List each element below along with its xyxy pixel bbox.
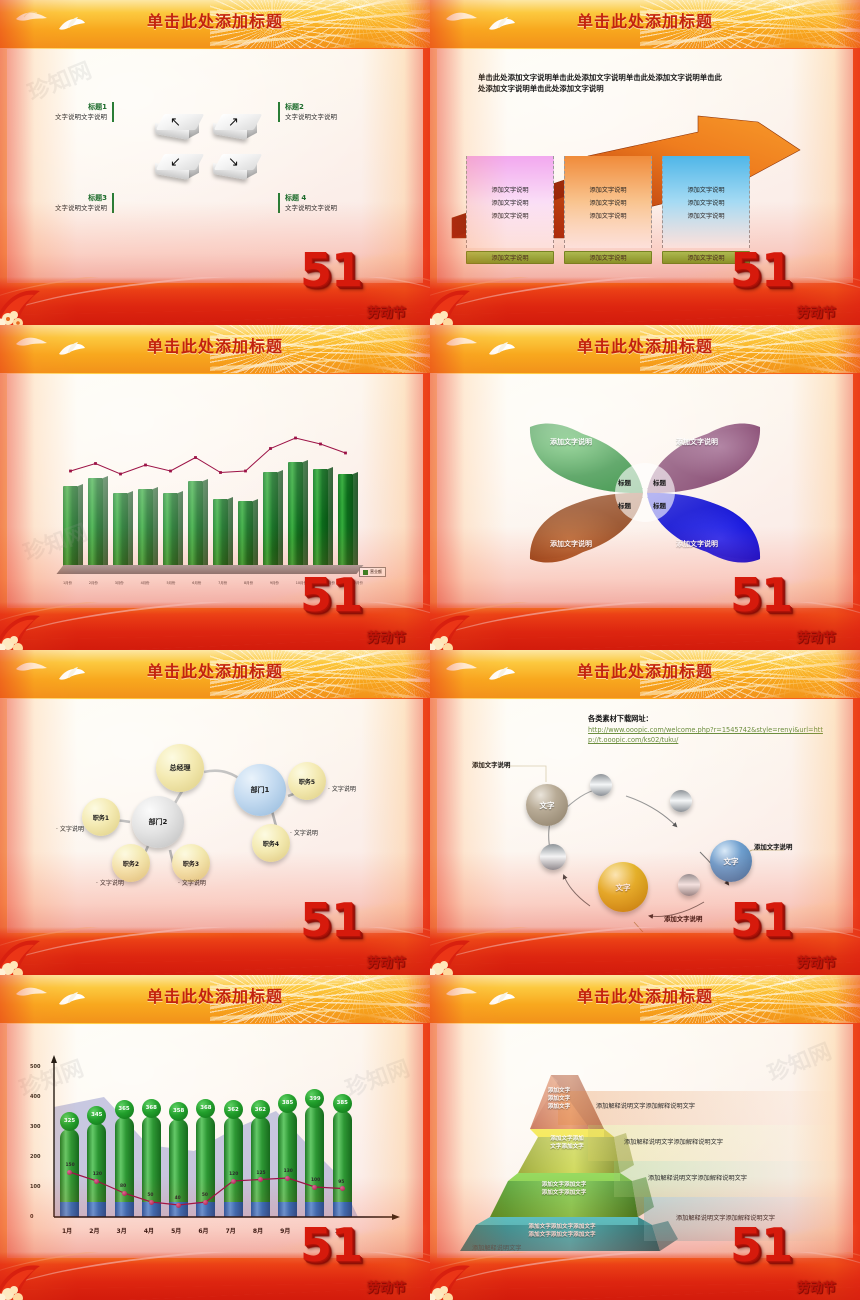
cycle-step-ball [678,874,700,896]
pyramid-level-2-label: 添加文字添加 文字添加文字 [512,1135,622,1151]
may-day-logo: 51 劳动节 [300,247,408,319]
info-column-2[interactable]: 添加文字说明 添加文字说明 添加文字说明 添加文字说明 [564,156,652,264]
flower-decor-icon [430,604,502,650]
cycle-note-3: 添加文字说明 [664,914,702,923]
pyramid-level-1-label: 添加文字 添加文字 添加文字 [522,1087,596,1111]
org-node-dept2[interactable]: 部门2 [132,796,184,848]
petal-center-label-2: 标题 [653,477,666,487]
key-block-3[interactable]: ↙ [160,154,200,180]
org-node-role3[interactable]: 职务3 [172,844,210,882]
pyramid-level-3-desc: 添加解释说明文字添加解释说明文字 [648,1173,747,1182]
may-day-logo: 51 劳动节 [730,572,838,644]
cycle-step-ball [670,790,692,812]
download-url-link[interactable]: http://www.ooopic.com/welcome.php?r=1545… [588,726,833,746]
cycle-node-2[interactable]: 文字 [710,840,752,882]
flower-decor-icon [0,929,72,975]
key-block-1[interactable]: ↖ [160,114,200,140]
org-note-4: · 文字说明 [290,828,318,837]
flower-decor-icon [0,604,72,650]
flower-decor-icon [0,279,72,325]
column-button-1[interactable]: 添加文字说明 [466,251,554,264]
column-body: 添加文字说明 添加文字说明 添加文字说明 [564,156,652,248]
slide-7-capsule-chart[interactable]: 单击此处添加标题 珍知网 珍知网 01002003004005003253453… [0,975,430,1300]
page-title: 单击此处添加标题 [0,8,430,32]
flower-decor-icon [0,1254,72,1300]
org-node-role1[interactable]: 职务1 [82,798,120,836]
cycle-node-3[interactable]: 文字 [598,862,648,912]
arrow-downleft-icon: ↙ [170,156,181,169]
page-title: 单击此处添加标题 [430,983,860,1007]
may-day-logo: 51 劳动节 [730,1222,838,1294]
org-note-5: · 文字说明 [328,784,356,793]
column-button-2[interactable]: 添加文字说明 [564,251,652,264]
download-heading: 各类素材下载网址： [588,714,653,724]
arrow-upleft-icon: ↖ [170,116,181,129]
org-node-role5[interactable]: 职务5 [288,762,326,800]
petal-center-label-4: 标题 [653,500,666,510]
petal-center-label-1: 标题 [618,477,631,487]
key-label-4: 标题 4 文字说明文字说明 [278,193,368,213]
may-day-logo: 51 劳动节 [300,1222,408,1294]
slide-thumbnail-grid: 单击此处添加标题 珍知网 标题1 文字说明文字说明 标题2 文字说明文字说明 标… [0,0,860,1300]
body-text: 单击此处添加文字说明单击此处添加文字说明单击此处添加文字说明单击此处添加文字说明… [478,72,728,95]
arrow-upright-icon: ↗ [228,116,239,129]
column-body: 添加文字说明 添加文字说明 添加文字说明 [466,156,554,248]
pyramid-level-3-label: 添加文字添加文字 添加文字添加文字 [490,1181,638,1197]
org-node-dept1[interactable]: 部门1 [234,764,286,816]
key-label-3: 标题3 文字说明文字说明 [34,193,114,213]
page-title: 单击此处添加标题 [0,658,430,682]
pyramid-level-2-desc: 添加解释说明文字添加解释说明文字 [624,1137,723,1146]
flower-decor-icon [430,279,502,325]
flower-decor-icon [430,929,502,975]
org-node-ceo[interactable]: 总经理 [156,744,204,792]
petal-center-label-3: 标题 [618,500,631,510]
org-node-role2[interactable]: 职务2 [112,844,150,882]
key-block-2[interactable]: ↗ [218,114,258,140]
page-title: 单击此处添加标题 [430,658,860,682]
may-day-logo: 51 劳动节 [730,897,838,969]
cycle-node-1[interactable]: 文字 [526,784,568,826]
key-block-4[interactable]: ↘ [218,154,258,180]
org-node-role4[interactable]: 职务4 [252,824,290,862]
pyramid-footer-note: 添加解释说明文字 [472,1243,522,1252]
slide-6-cycle-diagram[interactable]: 单击此处添加标题 各类素材下载网址： http://www.ooopic.com… [430,650,860,975]
watermark: 珍知网 [22,53,95,107]
cycle-note-2: 添加文字说明 [754,842,792,851]
org-note-1: · 文字说明 [56,824,84,833]
info-column-1[interactable]: 添加文字说明 添加文字说明 添加文字说明 添加文字说明 [466,156,554,264]
arrow-downright-icon: ↘ [228,156,239,169]
may-day-logo: 51 劳动节 [300,572,408,644]
may-day-logo: 51 劳动节 [300,897,408,969]
may-day-logo: 51 劳动节 [730,247,838,319]
slide-2-growth-arrow[interactable]: 单击此处添加标题 单击此处添加文字说明单击此处添加文字说明单击此处添加文字说明单… [430,0,860,325]
key-label-1: 标题1 文字说明文字说明 [34,102,114,122]
slide-3-column-chart[interactable]: 单击此处添加标题 珍知网 1月份2月份3月份4月份5月份6月份7月份8月份9月份… [0,325,430,650]
cycle-step-ball [590,774,612,796]
flower-decor-icon [430,1254,502,1300]
cycle-note-1: 添加文字说明 [472,760,510,769]
column-body: 添加文字说明 添加文字说明 添加文字说明 [662,156,750,248]
org-note-2: · 文字说明 [96,878,124,887]
page-title: 单击此处添加标题 [0,333,430,357]
page-title: 单击此处添加标题 [430,8,860,32]
pyramid-level-1-desc: 添加解释说明文字添加解释说明文字 [596,1101,695,1110]
slide-5-org-chart[interactable]: 单击此处添加标题 总经理 部门1 部门2 [0,650,430,975]
slide-4-petal-diagram[interactable]: 单击此处添加标题 [430,325,860,650]
org-note-3: · 文字说明 [178,878,206,887]
slide-1-four-keys[interactable]: 单击此处添加标题 珍知网 标题1 文字说明文字说明 标题2 文字说明文字说明 标… [0,0,430,325]
key-label-2: 标题2 文字说明文字说明 [278,102,368,122]
slide-8-pyramid[interactable]: 单击此处添加标题 珍知网 [430,975,860,1300]
page-title: 单击此处添加标题 [0,983,430,1007]
cycle-step-ball [540,844,566,870]
page-title: 单击此处添加标题 [430,333,860,357]
pyramid-level-4-label: 添加文字添加文字添加文字 添加文字添加文字添加文字 [464,1223,660,1239]
